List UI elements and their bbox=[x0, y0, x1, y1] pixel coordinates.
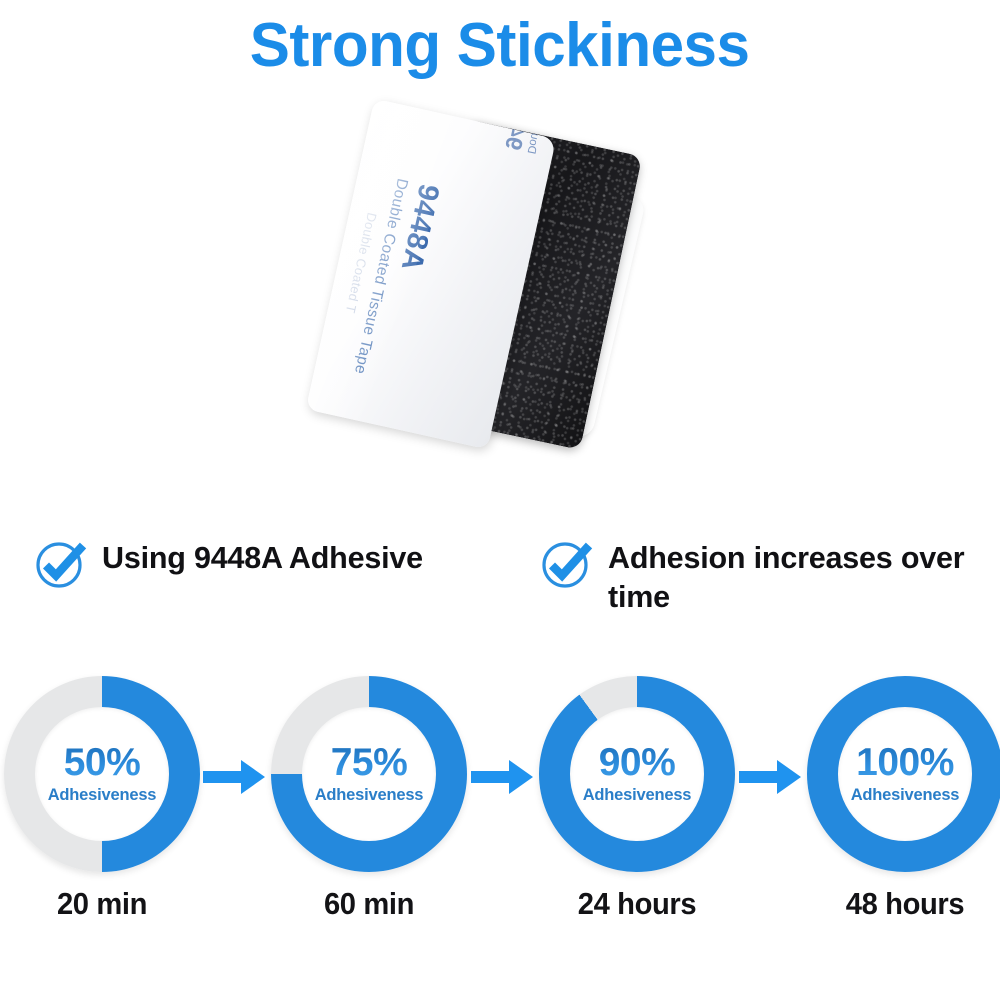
timeline-time-label: 48 hours bbox=[811, 888, 999, 919]
feature-item-adhesion-time: Adhesion increases over time bbox=[540, 534, 990, 617]
timeline-step: 50% Adhesiveness 20 min bbox=[2, 676, 202, 919]
arrow-right-icon bbox=[471, 760, 533, 794]
donut-percent-value: 50% bbox=[64, 743, 141, 782]
donut-percent-value: 90% bbox=[599, 743, 676, 782]
donut-gauge: 100% Adhesiveness bbox=[807, 676, 1000, 872]
timeline-time-label: 24 hours bbox=[543, 888, 731, 919]
feature-item-adhesive: Using 9448A Adhesive bbox=[34, 534, 514, 590]
adhesiveness-timeline-chart: 50% Adhesiveness 20 min 75% Adhesiveness… bbox=[0, 676, 1000, 926]
timeline-step: 90% Adhesiveness 24 hours bbox=[537, 676, 737, 919]
donut-center: 90% Adhesiveness bbox=[570, 707, 704, 841]
check-circle-icon bbox=[540, 536, 594, 590]
donut-gauge: 90% Adhesiveness bbox=[539, 676, 735, 872]
product-print-reverse-code: 9448A bbox=[502, 99, 551, 153]
product-print-showthrough: Double Coated Tissue T 9448A bbox=[502, 99, 557, 156]
donut-percent-value: 75% bbox=[331, 743, 408, 782]
donut-gauge: 75% Adhesiveness bbox=[271, 676, 467, 872]
donut-value-label: Adhesiveness bbox=[851, 786, 960, 805]
product-print-reverse-description: Double Coated Tissue T bbox=[524, 99, 556, 155]
timeline-time-label: 60 min bbox=[275, 888, 463, 919]
feature-label: Adhesion increases over time bbox=[608, 534, 990, 617]
donut-gauge: 50% Adhesiveness bbox=[4, 676, 200, 872]
product-image: Double Coated Tissue T 9448A Double Coat… bbox=[330, 105, 670, 475]
feature-label: Using 9448A Adhesive bbox=[102, 534, 423, 578]
check-circle-icon bbox=[34, 536, 88, 590]
timeline-time-label: 20 min bbox=[8, 888, 196, 919]
donut-center: 75% Adhesiveness bbox=[302, 707, 436, 841]
feature-list: Using 9448A Adhesive Adhesion increases … bbox=[0, 528, 1000, 650]
timeline-step: 75% Adhesiveness 60 min bbox=[269, 676, 469, 919]
arrow-right-icon bbox=[203, 760, 265, 794]
donut-percent-value: 100% bbox=[856, 743, 954, 782]
donut-value-label: Adhesiveness bbox=[48, 786, 157, 805]
donut-value-label: Adhesiveness bbox=[583, 786, 692, 805]
donut-value-label: Adhesiveness bbox=[315, 786, 424, 805]
arrow-right-icon bbox=[739, 760, 801, 794]
page-title: Strong Stickiness bbox=[250, 15, 750, 77]
donut-center: 100% Adhesiveness bbox=[838, 707, 972, 841]
timeline-step: 100% Adhesiveness 48 hours bbox=[805, 676, 1000, 919]
donut-center: 50% Adhesiveness bbox=[35, 707, 169, 841]
page-header: Strong Stickiness bbox=[0, 0, 1000, 92]
